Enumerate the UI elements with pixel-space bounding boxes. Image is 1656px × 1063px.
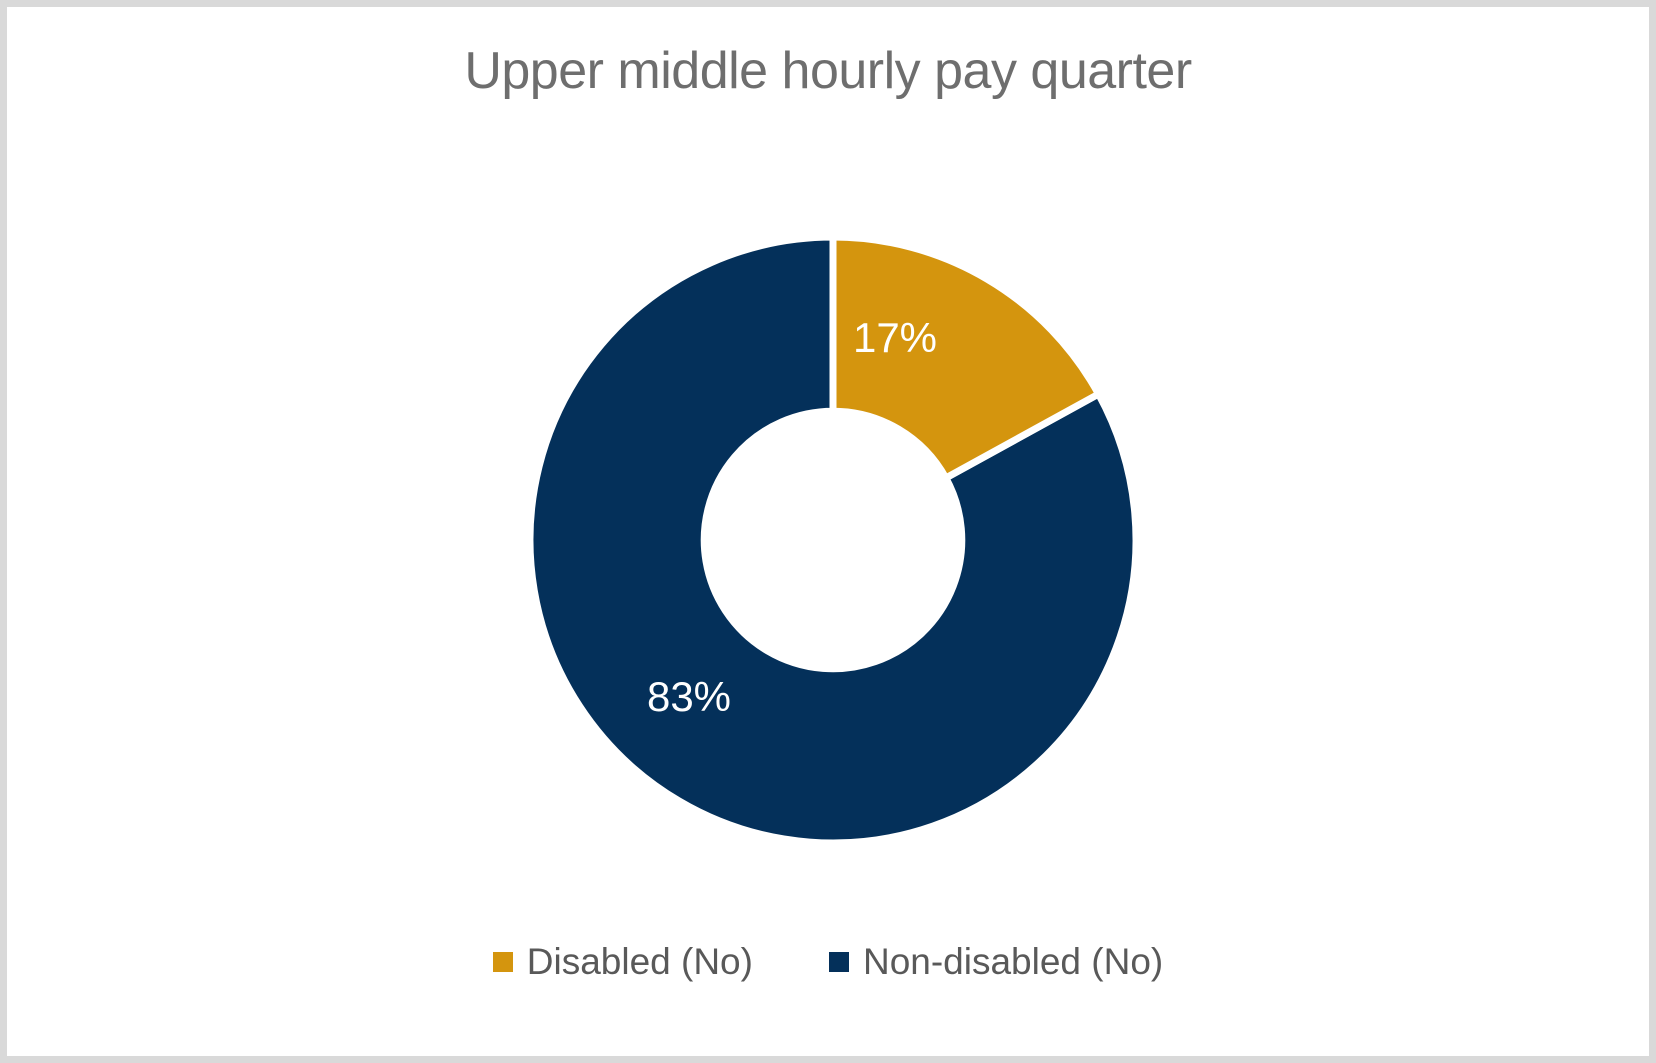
plot-area: 17% 83%	[7, 7, 1649, 1056]
donut-chart-graphic	[527, 234, 1139, 846]
legend-label-disabled: Disabled (No)	[527, 943, 753, 980]
legend-label-non-disabled: Non-disabled (No)	[863, 943, 1163, 980]
chart-frame: Upper middle hourly pay quarter 17% 83% …	[0, 0, 1656, 1063]
legend-item-non-disabled[interactable]: Non-disabled (No)	[829, 943, 1163, 980]
chart-legend: Disabled (No) Non-disabled (No)	[7, 943, 1649, 980]
legend-item-disabled[interactable]: Disabled (No)	[493, 943, 753, 980]
legend-swatch-icon-disabled	[493, 952, 513, 972]
legend-swatch-icon-non-disabled	[829, 952, 849, 972]
